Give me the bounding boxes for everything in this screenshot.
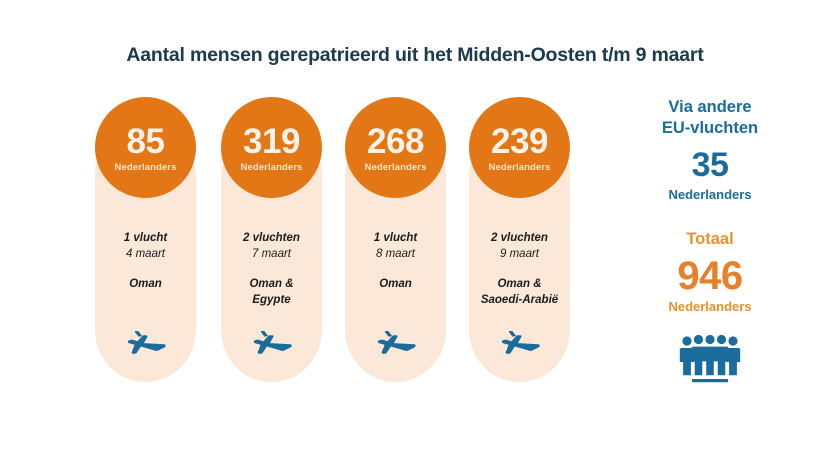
- infographic-canvas: Aantal mensen gerepatrieerd uit het Midd…: [0, 0, 830, 467]
- flight-count-badge: 319 Nederlanders: [221, 97, 322, 198]
- flight-count-badge: 268 Nederlanders: [345, 97, 446, 198]
- badge-unit: Nederlanders: [115, 162, 177, 173]
- flights-count: 1 vlucht: [95, 230, 196, 246]
- flights-count: 1 vlucht: [345, 230, 446, 246]
- summary-panel: Via andereEU-vluchten 35 Nederlanders To…: [620, 97, 800, 383]
- flight-country: Oman: [95, 276, 196, 292]
- airplane-icon: [125, 330, 167, 360]
- badge-unit: Nederlanders: [241, 162, 303, 173]
- flight-card-body: 1 vlucht 4 maart Oman: [95, 230, 196, 292]
- group-of-people-icon-wrapper: [620, 335, 800, 383]
- group-of-people-icon: [679, 335, 741, 383]
- badge-unit: Nederlanders: [489, 162, 551, 173]
- flight-date: 4 maart: [95, 246, 196, 262]
- flight-count-badge: 239 Nederlanders: [469, 97, 570, 198]
- eu-flights-unit: Nederlanders: [620, 187, 800, 202]
- flight-country: Oman &Saoedi-Arabië: [469, 276, 570, 308]
- total-number: 946: [620, 256, 800, 296]
- flights-count: 2 vluchten: [469, 230, 570, 246]
- badge-number: 85: [127, 124, 165, 159]
- flight-date: 8 maart: [345, 246, 446, 262]
- flights-count: 2 vluchten: [221, 230, 322, 246]
- flight-card-body: 2 vluchten 9 maart Oman &Saoedi-Arabië: [469, 230, 570, 308]
- badge-unit: Nederlanders: [365, 162, 427, 173]
- airplane-icon: [251, 330, 293, 360]
- flight-card-body: 2 vluchten 7 maart Oman &Egypte: [221, 230, 322, 308]
- flight-card-body: 1 vlucht 8 maart Oman: [345, 230, 446, 292]
- flight-count-badge: 85 Nederlanders: [95, 97, 196, 198]
- eu-flights-number: 35: [620, 148, 800, 182]
- airplane-icon-wrapper: [345, 330, 446, 360]
- airplane-icon-wrapper: [95, 330, 196, 360]
- airplane-icon-wrapper: [469, 330, 570, 360]
- total-heading: Totaal: [620, 230, 800, 249]
- total-unit: Nederlanders: [620, 299, 800, 314]
- airplane-icon: [499, 330, 541, 360]
- flight-country: Oman &Egypte: [221, 276, 322, 308]
- flight-date: 7 maart: [221, 246, 322, 262]
- flight-cards-group: 1 vlucht 4 maart Oman 2 vluchten 7 maart…: [95, 97, 570, 387]
- badge-number: 319: [243, 124, 300, 159]
- flight-country: Oman: [345, 276, 446, 292]
- badge-number: 239: [491, 124, 548, 159]
- airplane-icon: [375, 330, 417, 360]
- eu-flights-heading: Via andereEU-vluchten: [620, 97, 800, 139]
- badge-number: 268: [367, 124, 424, 159]
- page-title: Aantal mensen gerepatrieerd uit het Midd…: [0, 44, 830, 67]
- flight-date: 9 maart: [469, 246, 570, 262]
- airplane-icon-wrapper: [221, 330, 322, 360]
